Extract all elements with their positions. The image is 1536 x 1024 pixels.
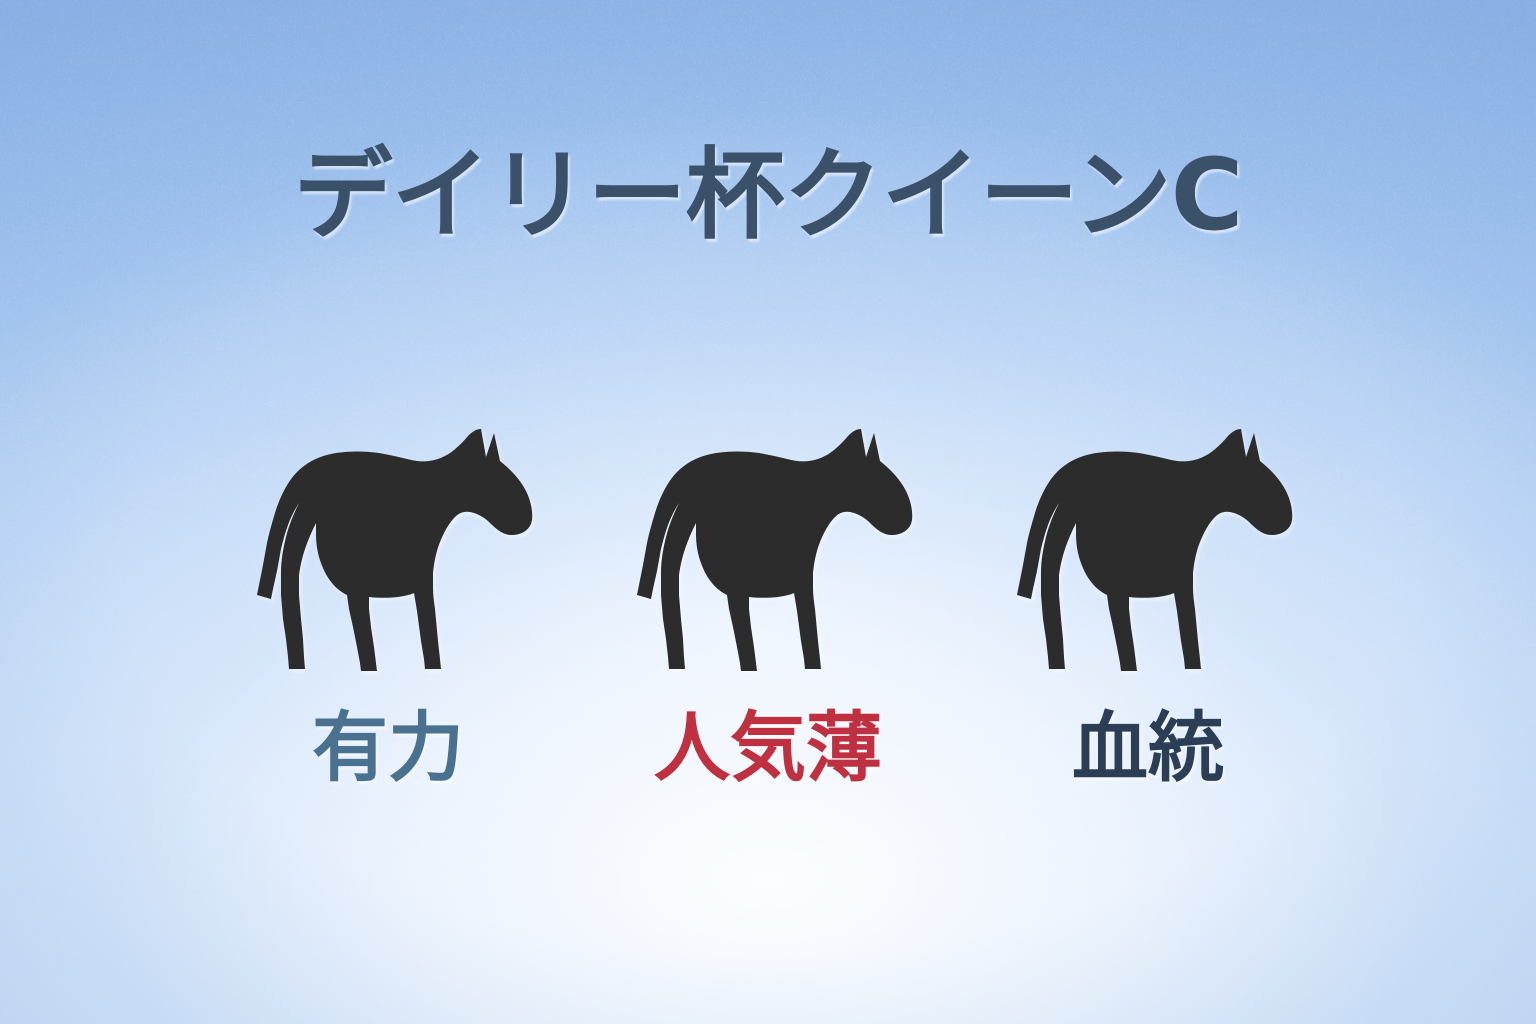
horse-silhouette-icon	[998, 413, 1298, 675]
horse-silhouette-icon	[238, 413, 538, 675]
page-title: デイリー杯クイーンC	[0, 143, 1536, 250]
horse-silhouette-row	[0, 405, 1536, 675]
horse-silhouette-icon	[618, 413, 918, 675]
poster-canvas: デイリー杯クイーンC 有力 人気薄 血統	[0, 0, 1536, 1024]
horse-item[interactable]	[238, 407, 538, 675]
horse-label-yuryoku: 有力	[238, 706, 538, 790]
horse-item[interactable]	[998, 407, 1298, 675]
horse-label-kettou: 血統	[998, 706, 1298, 790]
horse-label-row: 有力 人気薄 血統	[0, 706, 1536, 816]
horse-item[interactable]	[618, 407, 918, 675]
horse-label-ninkiusu: 人気薄	[618, 706, 918, 790]
